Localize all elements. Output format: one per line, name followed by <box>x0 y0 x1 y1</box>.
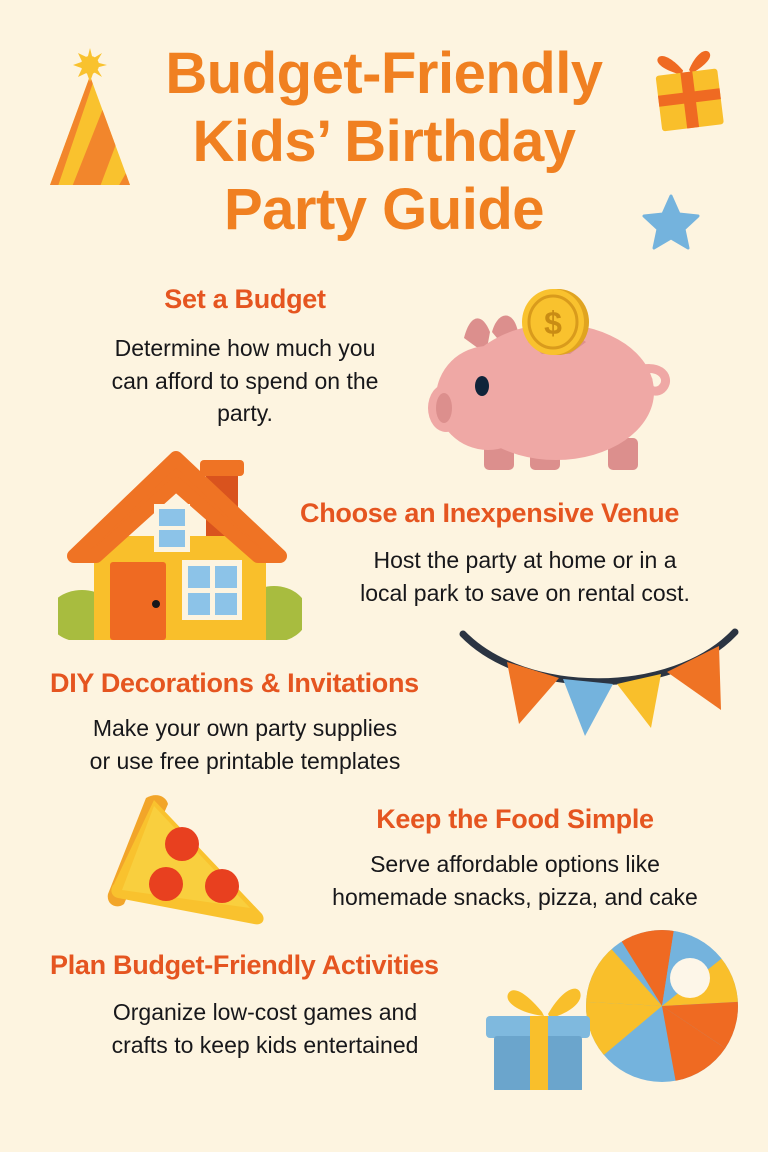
beach-ball-and-gift-icon <box>482 930 760 1090</box>
bunting-flags-icon <box>455 628 743 738</box>
body-line: crafts to keep kids entertained <box>40 1029 490 1062</box>
house-icon <box>58 440 302 640</box>
body-line: Organize low-cost games and <box>40 996 490 1029</box>
body-line: homemade snacks, pizza, and cake <box>290 881 740 914</box>
piggy-bank-icon: $ <box>420 280 682 480</box>
body-set-a-budget: Determine how much you can afford to spe… <box>30 332 460 430</box>
heading-keep-food-simple: Keep the Food Simple <box>290 804 740 835</box>
body-line: party. <box>30 397 460 430</box>
heading-set-a-budget: Set a Budget <box>0 284 490 315</box>
star-icon <box>640 190 702 252</box>
heading-choose-venue: Choose an Inexpensive Venue <box>300 498 760 529</box>
infographic-page: Budget-Friendly Kids’ Birthday Party Gui… <box>0 0 768 1152</box>
coin-symbol: $ <box>544 305 562 341</box>
gift-box-icon <box>486 989 590 1090</box>
body-line: Host the party at home or in a <box>300 544 750 577</box>
body-plan-activities: Organize low-cost games and crafts to ke… <box>40 996 490 1061</box>
body-line: can afford to spend on the <box>30 365 460 398</box>
heading-diy-decorations: DIY Decorations & Invitations <box>50 668 520 699</box>
body-line: Serve affordable options like <box>290 848 740 881</box>
body-line: Determine how much you <box>30 332 460 365</box>
body-keep-food-simple: Serve affordable options like homemade s… <box>290 848 740 913</box>
body-diy-decorations: Make your own party supplies or use free… <box>20 712 470 777</box>
body-line: local park to save on rental cost. <box>300 577 750 610</box>
body-line: Make your own party supplies <box>20 712 470 745</box>
pizza-slice-icon <box>104 786 304 936</box>
body-choose-venue: Host the party at home or in a local par… <box>300 544 750 609</box>
gift-box-icon <box>648 44 730 136</box>
party-hat-icon <box>42 42 138 192</box>
star-burst-icon <box>73 48 107 82</box>
body-line: or use free printable templates <box>20 745 470 778</box>
coin-icon: $ <box>522 289 589 355</box>
